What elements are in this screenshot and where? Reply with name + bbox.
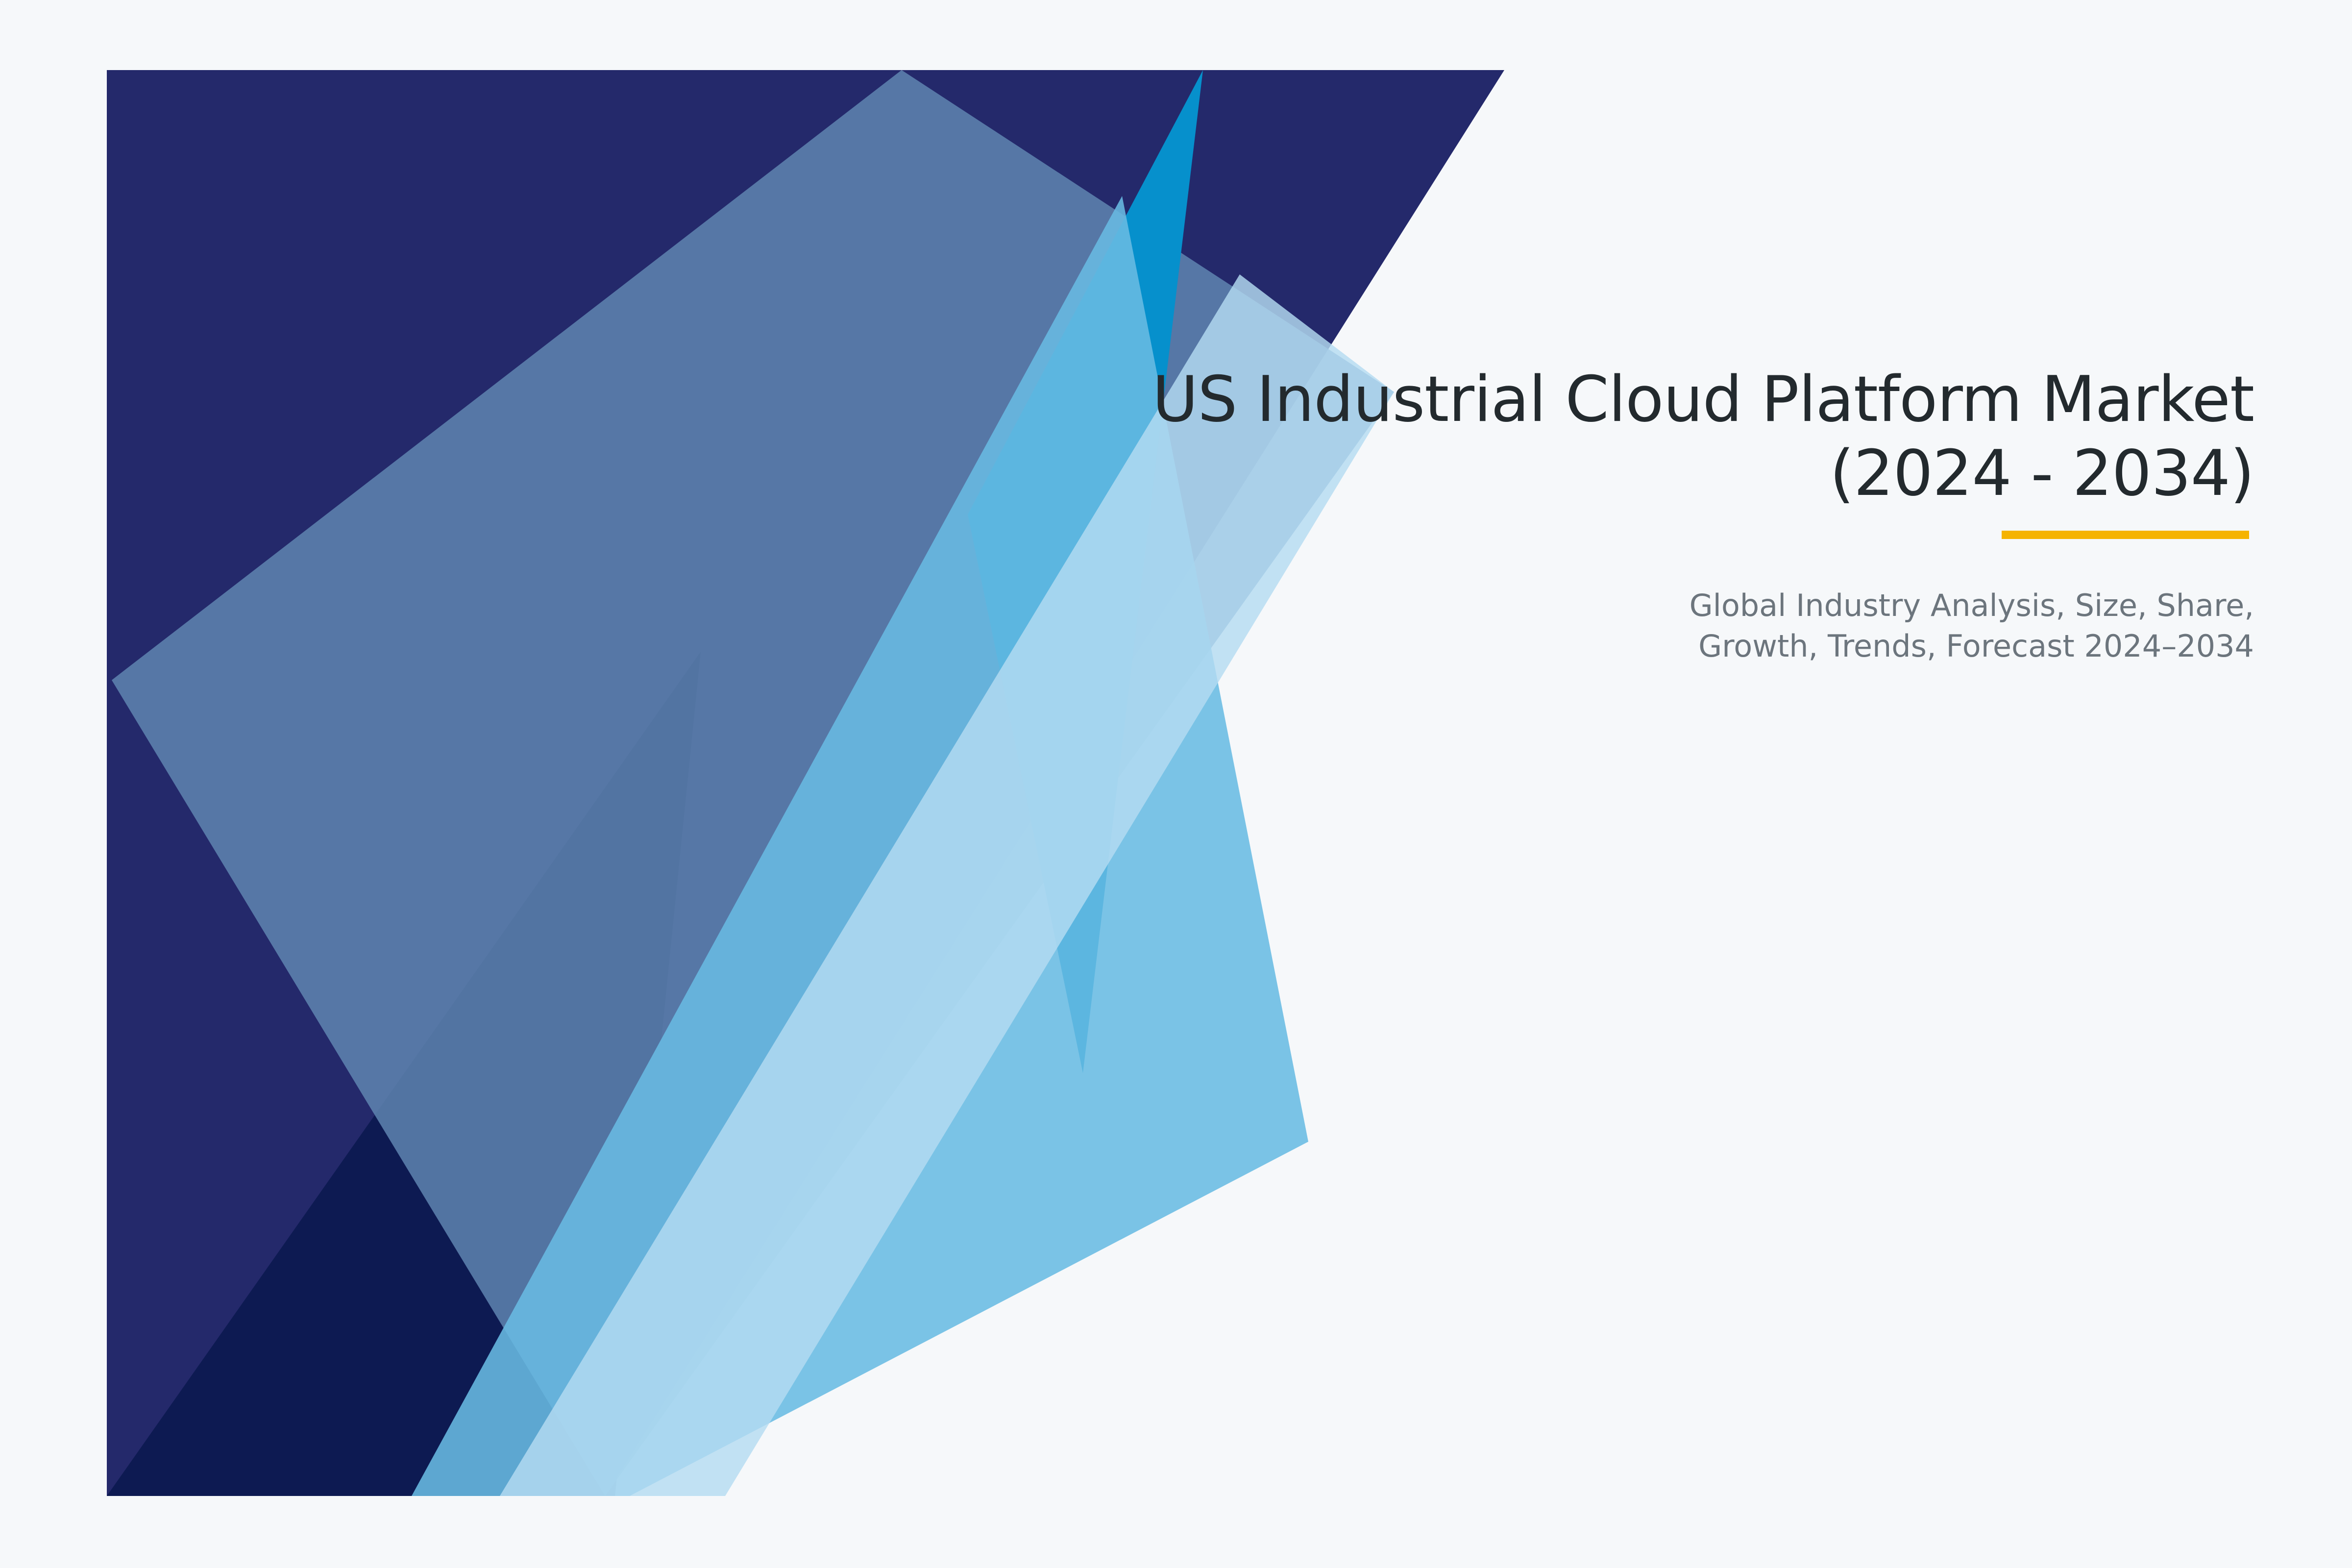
cover-page: US Industrial Cloud Platform Market (202… xyxy=(0,0,2352,1568)
abstract-geometric-artwork xyxy=(0,0,2352,1568)
page-subtitle-line-1: Global Industry Analysis, Size, Share, xyxy=(1617,585,2254,626)
artwork-shape-navy-field xyxy=(107,70,1504,1496)
artwork-shape-group xyxy=(107,70,1504,1496)
page-title: US Industrial Cloud Platform Market (202… xyxy=(833,363,2254,511)
cover-text-block: US Industrial Cloud Platform Market (202… xyxy=(833,363,2254,666)
page-title-line-1: US Industrial Cloud Platform Market xyxy=(833,363,2254,437)
page-subtitle: Global Industry Analysis, Size, Share, G… xyxy=(1617,585,2254,666)
page-subtitle-line-2: Growth, Trends, Forecast 2024–2034 xyxy=(1617,626,2254,666)
artwork-shape-deep-navy-spike xyxy=(107,652,701,1496)
title-accent-underline xyxy=(2002,531,2249,539)
page-title-line-2: (2024 - 2034) xyxy=(833,437,2254,511)
artwork-shape-slate-blue-sheet xyxy=(112,70,1394,1496)
